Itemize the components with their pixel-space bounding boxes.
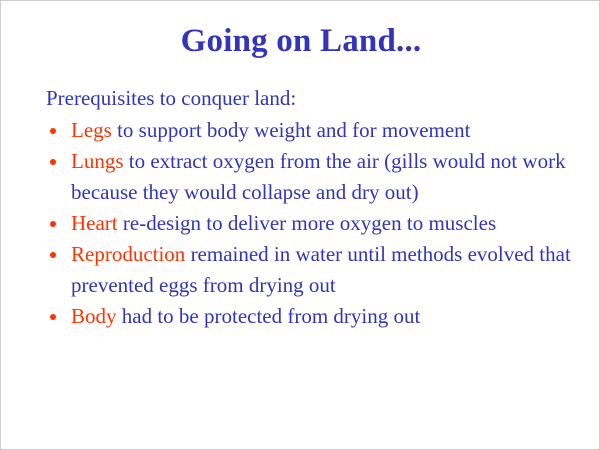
bullet-dot-icon [50, 159, 56, 165]
list-item: Lungs to extract oxygen from the air (gi… [46, 146, 576, 208]
lead-line: Prerequisites to conquer land: [46, 83, 576, 114]
list-item-rest: to extract oxygen from the air (gills wo… [71, 149, 566, 204]
list-item: Heart re-design to deliver more oxygen t… [46, 208, 576, 239]
slide-body: Prerequisites to conquer land: Legs to s… [46, 83, 576, 332]
bullet-dot-icon [50, 314, 56, 320]
list-item-text: Reproduction remained in water until met… [71, 239, 576, 301]
list-item: Reproduction remained in water until met… [46, 239, 576, 301]
list-item-text: Heart re-design to deliver more oxygen t… [71, 208, 576, 239]
list-item-keyword: Body [71, 304, 117, 328]
list-item-text: Body had to be protected from drying out [71, 301, 576, 332]
page-title: Going on Land... [1, 22, 600, 60]
bullet-dot-icon [50, 221, 56, 227]
bullet-dot-icon [50, 128, 56, 134]
list-item-keyword: Legs [71, 118, 112, 142]
list-item-rest: had to be protected from drying out [117, 304, 421, 328]
list-item-rest: re-design to deliver more oxygen to musc… [118, 211, 496, 235]
list-item: Body had to be protected from drying out [46, 301, 576, 332]
bullet-dot-icon [50, 252, 56, 258]
list-item-text: Legs to support body weight and for move… [71, 115, 576, 146]
list-item-rest: to support body weight and for movement [112, 118, 471, 142]
list-item-text: Lungs to extract oxygen from the air (gi… [71, 146, 576, 208]
presentation-slide: Going on Land... Prerequisites to conque… [0, 0, 600, 450]
bullet-list: Legs to support body weight and for move… [46, 115, 576, 332]
list-item-keyword: Reproduction [71, 242, 185, 266]
list-item: Legs to support body weight and for move… [46, 115, 576, 146]
list-item-keyword: Heart [71, 211, 118, 235]
list-item-keyword: Lungs [71, 149, 124, 173]
